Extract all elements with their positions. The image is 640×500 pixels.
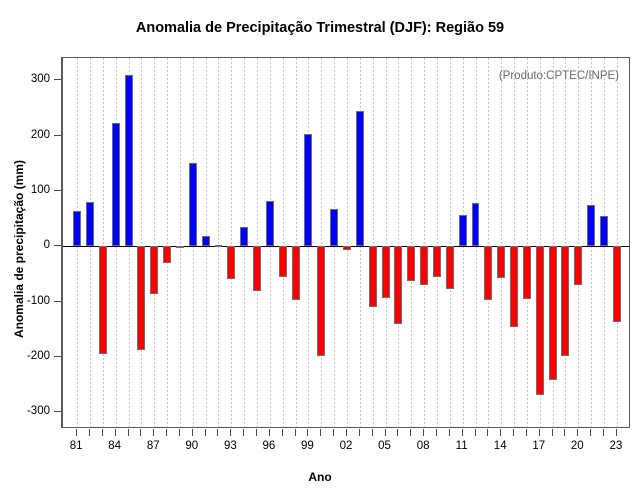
x-tick-1987: [153, 429, 154, 436]
bar-2013: [484, 246, 492, 300]
gridline-2002: [347, 58, 348, 427]
y-tick-200: [54, 135, 61, 136]
bar-2022: [600, 216, 608, 246]
gridline-2016: [527, 58, 528, 427]
x-tick-label-20: 20: [571, 440, 584, 452]
page-title: Anomalia de Precipitação Trimestral (DJF…: [0, 20, 640, 36]
x-tick-1995: [256, 429, 257, 436]
bar-2018: [549, 246, 557, 380]
x-tick-1981: [76, 429, 77, 436]
gridline-1993: [231, 58, 232, 427]
x-tick-2011: [462, 429, 463, 436]
gridline-2014: [501, 58, 502, 427]
bar-2023: [613, 246, 621, 322]
bar-1987: [150, 246, 158, 294]
gridline-2009: [437, 58, 438, 427]
gridline-2010: [450, 58, 451, 427]
bar-2017: [536, 246, 544, 394]
gridline-2004: [373, 58, 374, 427]
gridline-1989: [180, 58, 181, 427]
y-tick--300: [54, 411, 61, 412]
gridline-1998: [296, 58, 297, 427]
x-tick-2003: [359, 429, 360, 436]
gridline-2023: [617, 58, 618, 427]
x-tick-2013: [487, 429, 488, 436]
x-tick-label-11: 11: [456, 440, 468, 452]
bar-2000: [317, 246, 325, 356]
x-tick-2016: [526, 429, 527, 436]
bar-1994: [240, 227, 248, 246]
gridline-1988: [167, 58, 168, 427]
x-tick-label-05: 05: [378, 440, 391, 452]
y-tick-100: [54, 190, 61, 191]
bar-2004: [369, 246, 377, 307]
gridline-2000: [321, 58, 322, 427]
gridline-2013: [488, 58, 489, 427]
x-tick-1989: [179, 429, 180, 436]
bar-1990: [189, 163, 197, 246]
x-tick-1992: [217, 429, 218, 436]
x-tick-1994: [243, 429, 244, 436]
y-tick--200: [54, 356, 61, 357]
x-tick-1984: [115, 429, 116, 436]
y-tick-300: [54, 79, 61, 80]
x-tick-2002: [346, 429, 347, 436]
bar-2012: [472, 203, 480, 246]
bar-2011: [459, 215, 467, 246]
x-tick-1999: [307, 429, 308, 436]
gridline-2020: [578, 58, 579, 427]
x-tick-2012: [475, 429, 476, 436]
x-tick-2008: [423, 429, 424, 436]
gridline-2015: [514, 58, 515, 427]
x-tick-2014: [500, 429, 501, 436]
x-tick-2001: [333, 429, 334, 436]
gridline-1987: [154, 58, 155, 427]
gridline-1995: [257, 58, 258, 427]
bar-2007: [407, 246, 415, 280]
x-tick-1991: [205, 429, 206, 436]
gridline-1986: [141, 58, 142, 427]
x-tick-label-87: 87: [147, 440, 160, 452]
gridline-2019: [565, 58, 566, 427]
x-tick-2019: [564, 429, 565, 436]
bar-1981: [73, 211, 81, 246]
gridline-1997: [283, 58, 284, 427]
x-tick-1986: [140, 429, 141, 436]
bar-1998: [292, 246, 300, 300]
bar-2020: [574, 246, 582, 285]
x-tick-1983: [102, 429, 103, 436]
bar-1986: [137, 246, 145, 350]
x-tick-1993: [230, 429, 231, 436]
x-tick-label-96: 96: [262, 440, 275, 452]
x-tick-label-17: 17: [532, 440, 545, 452]
source-annotation: (Produto:CPTEC/INPE): [499, 70, 619, 82]
x-tick-2020: [577, 429, 578, 436]
bar-1995: [253, 246, 261, 290]
y-tick-0: [54, 245, 61, 246]
x-tick-2005: [385, 429, 386, 436]
bar-1989: [176, 246, 184, 248]
x-tick-label-23: 23: [609, 440, 622, 452]
x-tick-2015: [513, 429, 514, 436]
plot-area: (Produto:CPTEC/INPE): [62, 57, 630, 428]
x-tick-1988: [166, 429, 167, 436]
x-axis-title: Ano: [0, 470, 640, 484]
x-tick-label-81: 81: [70, 440, 83, 452]
x-tick-1985: [128, 429, 129, 436]
x-tick-2000: [320, 429, 321, 436]
x-tick-1982: [89, 429, 90, 436]
bar-2002: [343, 246, 351, 249]
x-tick-label-84: 84: [108, 440, 121, 452]
bar-2005: [382, 246, 390, 297]
x-tick-label-93: 93: [224, 440, 237, 452]
x-tick-label-99: 99: [301, 440, 314, 452]
bar-2010: [446, 246, 454, 289]
x-tick-1997: [282, 429, 283, 436]
bar-2001: [330, 209, 338, 246]
x-tick-2017: [539, 429, 540, 436]
gridline-2008: [424, 58, 425, 427]
x-tick-1990: [192, 429, 193, 436]
x-tick-2004: [372, 429, 373, 436]
x-tick-1998: [295, 429, 296, 436]
plot-inner: [63, 58, 629, 427]
gridline-2005: [386, 58, 387, 427]
x-tick-2009: [436, 429, 437, 436]
x-tick-2023: [616, 429, 617, 436]
x-tick-2021: [590, 429, 591, 436]
bar-2009: [433, 246, 441, 276]
y-axis-title: Anomalia de precipitação (mm): [12, 49, 26, 449]
bar-2016: [523, 246, 531, 299]
x-tick-label-90: 90: [185, 440, 198, 452]
bar-1984: [112, 123, 120, 246]
bar-2008: [420, 246, 428, 285]
x-tick-label-08: 08: [417, 440, 430, 452]
gridline-2007: [411, 58, 412, 427]
bar-1988: [163, 246, 171, 263]
gridline-1992: [218, 58, 219, 427]
bar-2003: [356, 111, 364, 247]
bar-1997: [279, 246, 287, 276]
bar-1996: [266, 201, 274, 246]
bar-1991: [202, 236, 210, 246]
bar-1983: [99, 246, 107, 354]
x-tick-label-14: 14: [494, 440, 507, 452]
x-tick-2022: [603, 429, 604, 436]
bar-2006: [394, 246, 402, 324]
bar-1999: [304, 134, 312, 246]
bar-2019: [561, 246, 569, 356]
bar-1982: [86, 202, 94, 246]
x-tick-label-02: 02: [340, 440, 353, 452]
bar-2021: [587, 205, 595, 246]
x-tick-2007: [410, 429, 411, 436]
y-tick--100: [54, 301, 61, 302]
x-tick-1996: [269, 429, 270, 436]
x-tick-2018: [552, 429, 553, 436]
x-tick-2010: [449, 429, 450, 436]
bar-2015: [510, 246, 518, 326]
bar-2014: [497, 246, 505, 278]
bar-1992: [215, 245, 223, 247]
gridline-2006: [398, 58, 399, 427]
chart-page: Anomalia de Precipitação Trimestral (DJF…: [0, 0, 640, 500]
x-tick-2006: [397, 429, 398, 436]
bar-1993: [227, 246, 235, 279]
gridline-1983: [103, 58, 104, 427]
bar-1985: [125, 75, 133, 246]
